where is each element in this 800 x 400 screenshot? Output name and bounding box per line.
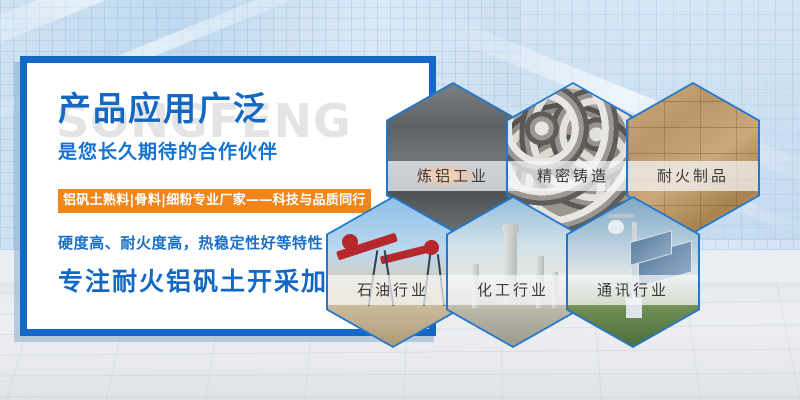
focus-text: 专注耐火铝矾土开采加工: [58, 262, 355, 298]
hex-label: 耐火制品: [657, 165, 729, 186]
hex-label: 炼铝工业: [417, 165, 489, 186]
hex-label: 通讯行业: [597, 279, 669, 300]
page-title: 产品应用广泛: [58, 90, 358, 129]
promo-banner: SONGFENG 产品应用广泛 是您长久期待的合作伙伴 铝矾土熟料|骨料|细粉专…: [0, 0, 800, 400]
hex-label: 精密铸造: [537, 165, 609, 186]
subtitle: 是您长久期待的合作伙伴: [58, 137, 358, 164]
tagline-badge: 铝矾土熟料|骨料|细粉专业厂家——科技与品质同行: [58, 189, 371, 213]
headline-block: 产品应用广泛 是您长久期待的合作伙伴: [58, 90, 358, 164]
hex-label-band: 通讯行业: [568, 275, 698, 305]
feature-text: 硬度高、耐火度高，热稳定性好等特性: [58, 232, 323, 253]
hex-label-band: 化工行业: [448, 275, 578, 305]
hex-label-band: 精密铸造: [508, 161, 638, 191]
hex-label-band: 耐火制品: [628, 161, 758, 191]
hex-label-band: 炼铝工业: [388, 161, 518, 191]
hex-label: 石油行业: [357, 279, 429, 300]
hex-label: 化工行业: [477, 279, 549, 300]
hex-label-band: 石油行业: [328, 275, 458, 305]
